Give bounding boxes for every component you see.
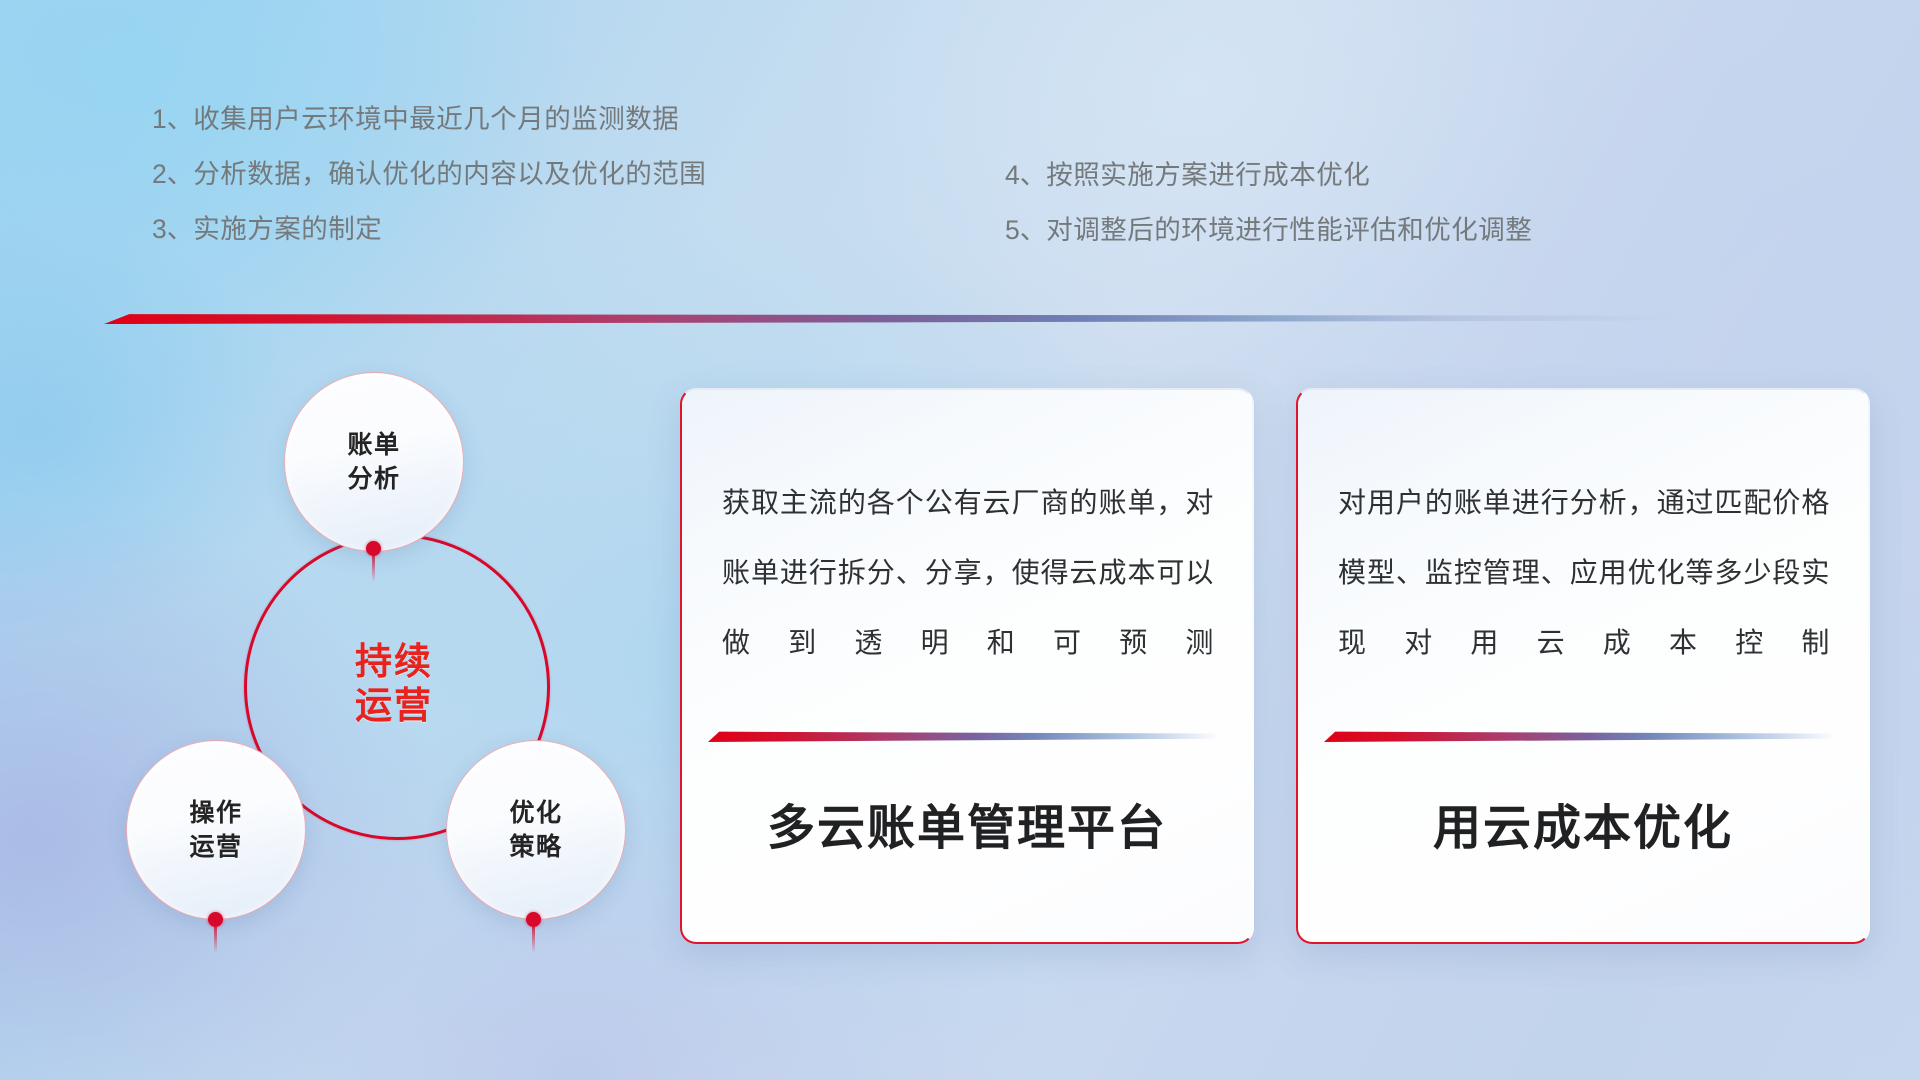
- connector-dot-left: [208, 912, 223, 927]
- connector-tail-left: [214, 925, 217, 953]
- step-item-1: 1、收集用户云环境中最近几个月的监测数据: [152, 92, 852, 147]
- feature-card-multi-cloud-billing-platform[interactable]: 获取主流的各个公有云厂商的账单，对账单进行拆分、分享，使得云成本可以做到透明和可…: [680, 388, 1254, 944]
- node-label-line1: 账单: [347, 428, 400, 462]
- cycle-center-label: 持续 运营: [244, 534, 544, 834]
- connector-dot-right: [526, 912, 541, 927]
- step-item-3: 3、实施方案的制定: [152, 202, 852, 257]
- feature-card-cloud-cost-optimization[interactable]: 对用户的账单进行分析，通过匹配价格模型、监控管理、应用优化等多少段实现对用云成本…: [1296, 388, 1870, 944]
- center-label-line1: 持续: [355, 640, 433, 684]
- steps-left-column: 1、收集用户云环境中最近几个月的监测数据 2、分析数据，确认优化的内容以及优化的…: [152, 92, 852, 257]
- node-label-line2: 分析: [347, 462, 400, 496]
- step-text: 按照实施方案进行成本优化: [1046, 160, 1370, 190]
- card-title: 多云账单管理平台: [682, 788, 1252, 858]
- card-description: 对用户的账单进行分析，通过匹配价格模型、监控管理、应用优化等多少段实现对用云成本…: [1338, 468, 1830, 678]
- section-divider: [104, 312, 1674, 324]
- step-number: 4、: [1005, 160, 1046, 190]
- card-title: 用云成本优化: [1298, 788, 1868, 858]
- step-number: 1、: [152, 104, 193, 134]
- step-text: 收集用户云环境中最近几个月的监测数据: [193, 104, 679, 134]
- node-label-line2: 运营: [189, 830, 242, 864]
- step-number: 2、: [152, 159, 193, 189]
- step-item-2: 2、分析数据，确认优化的内容以及优化的范围: [152, 147, 852, 202]
- center-label-line2: 运营: [355, 684, 433, 728]
- card-accent-gradient: [708, 730, 1220, 742]
- node-label-line2: 策略: [509, 830, 562, 864]
- step-text: 分析数据，确认优化的内容以及优化的范围: [193, 159, 706, 189]
- step-item-5: 5、对调整后的环境进行性能评估和优化调整: [1005, 203, 1765, 258]
- card-accent-gradient: [1324, 730, 1836, 742]
- step-item-4: 4、按照实施方案进行成本优化: [1005, 148, 1765, 203]
- step-number: 5、: [1005, 215, 1046, 245]
- step-number: 3、: [152, 214, 193, 244]
- diagram-node-billing-analysis[interactable]: 账单 分析: [284, 372, 464, 552]
- card-accent-bar: [708, 730, 1220, 742]
- card-description: 获取主流的各个公有云厂商的账单，对账单进行拆分、分享，使得云成本可以做到透明和可…: [722, 468, 1214, 678]
- node-label-line1: 操作: [189, 796, 242, 830]
- steps-right-column: 4、按照实施方案进行成本优化 5、对调整后的环境进行性能评估和优化调整: [1005, 148, 1765, 258]
- cycle-diagram: 账单 分析 操作 运营 优化 策略 持续 运营: [108, 356, 668, 976]
- step-text: 对调整后的环境进行性能评估和优化调整: [1046, 215, 1532, 245]
- connector-tail-right: [532, 925, 535, 953]
- step-text: 实施方案的制定: [193, 214, 382, 244]
- divider-gradient-bar: [104, 312, 1674, 324]
- card-accent-bar: [1324, 730, 1836, 742]
